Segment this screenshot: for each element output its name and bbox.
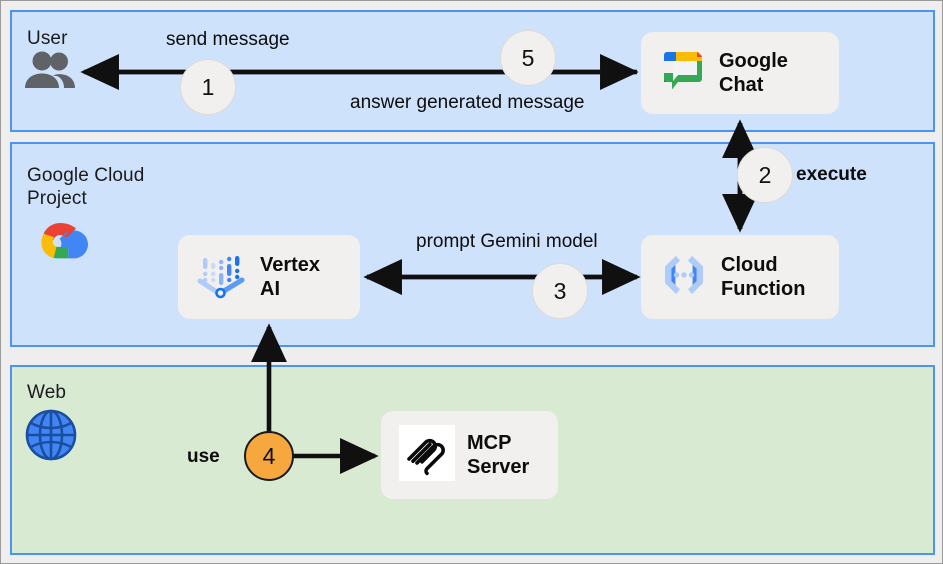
node-title-cloud-function: Cloud Function [721, 253, 805, 301]
google-chat-icon [659, 47, 707, 100]
step-badge-3[interactable]: 3 [532, 263, 588, 319]
cloud-function-icon [659, 251, 709, 304]
users-group-icon [23, 51, 77, 94]
step-badge-4[interactable]: 4 [244, 431, 294, 481]
panel-label-user: User [27, 27, 68, 50]
edge-label-prompt-gemini-model: prompt Gemini model [416, 231, 598, 253]
step-badge-5[interactable]: 5 [500, 30, 556, 86]
panel-label-web: Web [27, 381, 66, 404]
node-cloud-function[interactable]: Cloud Function [641, 235, 839, 319]
node-mcp-server[interactable]: MCP Server [381, 411, 558, 499]
node-title-google-chat: Google Chat [719, 49, 788, 97]
edge-label-execute: execute [796, 164, 867, 186]
vertex-ai-icon [196, 249, 248, 306]
globe-icon [25, 409, 77, 466]
node-title-vertex-ai: Vertex AI [260, 253, 320, 301]
panel-label-google-cloud-project: Google Cloud Project [27, 164, 144, 210]
diagram-canvas: User Google Cloud Project Web [0, 0, 943, 564]
step-badge-2[interactable]: 2 [737, 147, 793, 203]
google-cloud-logo-icon [31, 220, 89, 271]
node-vertex-ai[interactable]: Vertex AI [178, 235, 360, 319]
step-badge-1[interactable]: 1 [180, 59, 236, 115]
edge-label-answer-generated-message: answer generated message [350, 92, 584, 114]
node-title-mcp-server: MCP Server [467, 431, 529, 479]
mcp-logo-icon [399, 425, 455, 486]
edge-label-send-message: send message [166, 29, 290, 51]
node-google-chat[interactable]: Google Chat [641, 32, 839, 114]
edge-label-use: use [187, 446, 220, 468]
